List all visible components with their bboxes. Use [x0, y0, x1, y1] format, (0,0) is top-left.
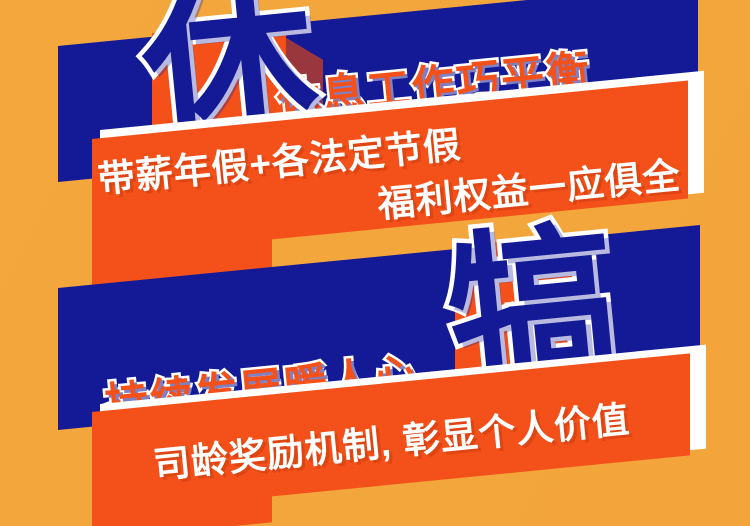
poster-canvas: 休息工作巧平衡 休 带薪年假+各法定节假 福利权益一应俱全 持续发展暖人心 犒 … — [0, 0, 750, 526]
